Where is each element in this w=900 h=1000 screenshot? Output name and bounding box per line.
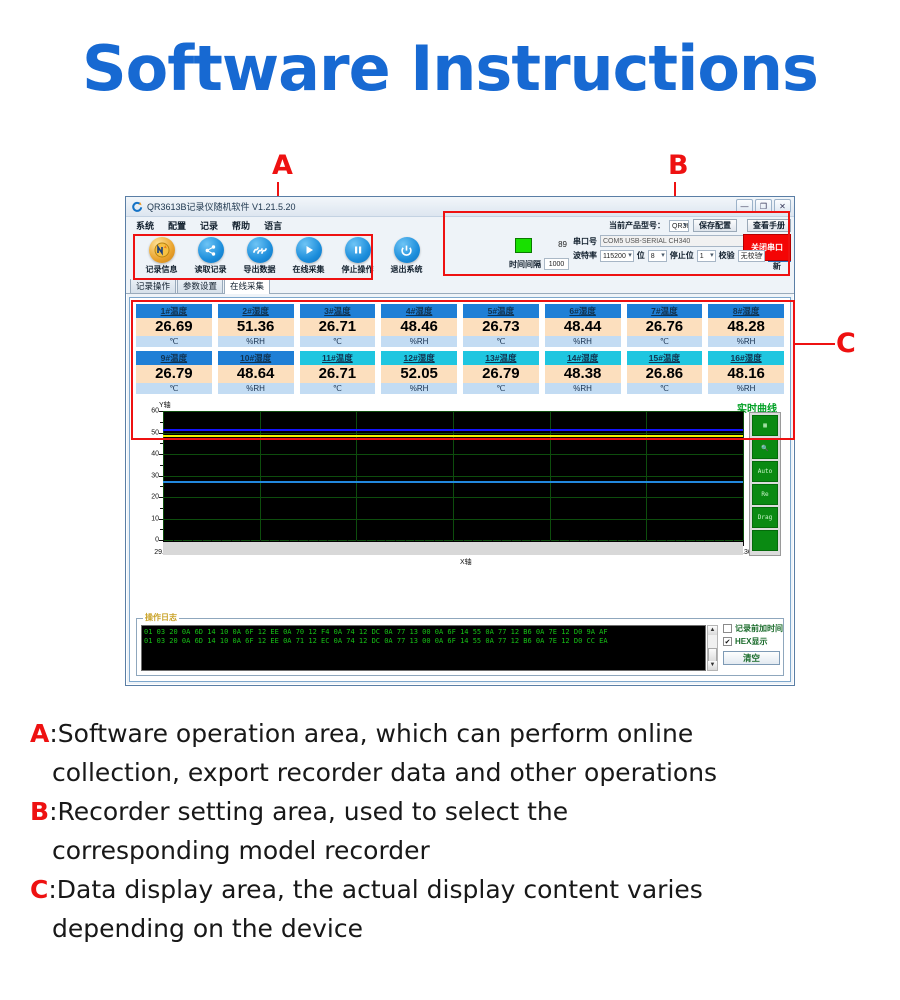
- blank-button[interactable]: [752, 530, 778, 551]
- serial-port-select[interactable]: COM5 USB-SERIAL CH340: [600, 235, 755, 247]
- data-cell-header: 7#温度: [627, 304, 703, 318]
- data-bits-select[interactable]: 8: [648, 250, 667, 262]
- operation-log-legend: 操作日志: [143, 612, 179, 623]
- annotation-letter-b: B: [668, 152, 689, 179]
- chart-x-minor-tick: [743, 540, 744, 546]
- data-cell-unit: %RH: [381, 336, 457, 347]
- data-cell-unit: %RH: [381, 383, 457, 394]
- data-cell-header: 3#温度: [300, 304, 376, 318]
- data-cell-value: 52.05: [381, 365, 457, 383]
- caption-text: :Software operation area, which can perf…: [49, 719, 693, 748]
- data-cell-value: 48.44: [545, 318, 621, 336]
- data-cell: 14#湿度48.38%RH: [545, 351, 621, 394]
- data-cell-unit: ℃: [300, 336, 376, 347]
- parity-select[interactable]: 无校验: [738, 250, 765, 262]
- data-cell-unit: ℃: [463, 336, 539, 347]
- interval-label: 时间间隔: [509, 259, 541, 270]
- realtime-chart: Y轴 实时曲线 010203040506029.3639.3636449.363…: [137, 400, 783, 565]
- data-cell-unit: %RH: [545, 383, 621, 394]
- log-line: 01 03 20 0A 6D 14 10 0A 6F 12 EE 0A 71 1…: [144, 637, 703, 646]
- status-led-indicator: [515, 238, 532, 253]
- data-cell-unit: %RH: [218, 336, 294, 347]
- drag-button[interactable]: Drag: [752, 507, 778, 528]
- hex-display-checkbox-label: HEX显示: [735, 636, 767, 647]
- caption-letter: A: [30, 719, 49, 748]
- data-cell-header: 15#温度: [627, 351, 703, 365]
- export-data-icon: [247, 237, 273, 263]
- serial-settings-panel: 当前产品型号： QR3613B 保存配置 查看手册 串口号 COM5 USB-S…: [573, 219, 791, 279]
- timestamp-checkbox-label: 记录前加时间: [735, 623, 783, 634]
- view-manual-button[interactable]: 查看手册: [747, 219, 791, 232]
- model-select[interactable]: QR3613B: [669, 220, 689, 232]
- record-info-icon: [149, 237, 175, 263]
- annotation-letter-a: A: [272, 152, 293, 179]
- data-cell: 7#温度26.76℃: [627, 304, 703, 347]
- data-cell-value: 48.28: [708, 318, 784, 336]
- caption-line: B:Recorder setting area, used to select …: [30, 792, 900, 831]
- toolbar-label-read-record: 读取记录: [195, 264, 227, 275]
- caption-text: :Recorder setting area, used to select t…: [49, 797, 568, 826]
- data-cell-value: 48.38: [545, 365, 621, 383]
- data-cell-value: 26.86: [627, 365, 703, 383]
- data-cell: 9#温度26.79℃: [136, 351, 212, 394]
- stop-bits-select[interactable]: 1: [697, 250, 716, 262]
- log-options: 记录前加时间 HEX显示 清空: [723, 623, 780, 672]
- data-cell: 8#湿度48.28%RH: [708, 304, 784, 347]
- chart-x-axis-label: X轴: [460, 557, 472, 567]
- data-cell: 10#湿度48.64%RH: [218, 351, 294, 394]
- chart-x-axis-strip: [163, 541, 743, 555]
- chart-toolbar: ▦🔍AutoReDrag: [749, 412, 781, 556]
- tab-parameter-setting[interactable]: 参数设置: [177, 278, 223, 293]
- data-cell-header: 9#温度: [136, 351, 212, 365]
- data-cell-unit: ℃: [627, 336, 703, 347]
- data-cell-value: 26.79: [136, 365, 212, 383]
- save-config-button[interactable]: 保存配置: [693, 219, 737, 232]
- data-cell: 11#温度26.71℃: [300, 351, 376, 394]
- caption-line: corresponding model recorder: [30, 831, 900, 870]
- data-cell-unit: %RH: [545, 336, 621, 347]
- window-controls: — ❐ ✕: [736, 199, 791, 213]
- data-cell-unit: %RH: [708, 336, 784, 347]
- annotation-leader-c: [795, 343, 835, 345]
- baud-rate-select[interactable]: 115200: [600, 250, 634, 262]
- tab-bar: 记录操作 参数设置 在线采集: [126, 279, 794, 294]
- data-cell-value: 26.73: [463, 318, 539, 336]
- data-cell: 15#温度26.86℃: [627, 351, 703, 394]
- reset-button[interactable]: Re: [752, 484, 778, 505]
- data-cell-header: 4#湿度: [381, 304, 457, 318]
- serial-port-label: 串口号: [573, 236, 597, 247]
- toolbar-label-online-collect: 在线采集: [293, 264, 325, 275]
- timestamp-checkbox[interactable]: [723, 624, 732, 633]
- menu-item-system[interactable]: 系统: [136, 219, 154, 232]
- data-cell-header: 13#温度: [463, 351, 539, 365]
- stop-operation-icon: [345, 237, 371, 263]
- toolbar-button-read-record[interactable]: 读取记录: [187, 237, 234, 275]
- toolbar-label-exit-system: 退出系统: [391, 264, 423, 275]
- data-cell-header: 6#湿度: [545, 304, 621, 318]
- auto-scale-button[interactable]: Auto: [752, 461, 778, 482]
- chart-plot-area[interactable]: 010203040506029.3639.3636449.3636459.363…: [163, 411, 743, 540]
- annotation-letter-c: C: [836, 330, 856, 357]
- data-cell: 5#温度26.73℃: [463, 304, 539, 347]
- data-cell: 12#湿度52.05%RH: [381, 351, 457, 394]
- stop-bits-label: 停止位: [670, 250, 694, 261]
- toolbar-strip: 记录信息 读取记录 导出数据 在线采集: [126, 234, 794, 279]
- data-cell-value: 48.16: [708, 365, 784, 383]
- caption-text: :Data display area, the actual display c…: [48, 875, 702, 904]
- chart-series-temperature-cyan: [163, 481, 743, 483]
- online-collect-icon: [296, 237, 322, 263]
- parity-label: 校验: [719, 250, 735, 261]
- data-cell: 4#湿度48.46%RH: [381, 304, 457, 347]
- data-cell-unit: ℃: [627, 383, 703, 394]
- baud-rate-label: 波特率: [573, 250, 597, 261]
- log-scrollbar[interactable]: ▲ ▼: [707, 625, 718, 671]
- data-cell-header: 1#温度: [136, 304, 212, 318]
- caption-text: depending on the device: [52, 914, 363, 943]
- read-record-icon: [198, 237, 224, 263]
- hex-display-checkbox[interactable]: [723, 637, 732, 646]
- caption-line: collection, export recorder data and oth…: [30, 753, 900, 792]
- data-cell-value: 51.36: [218, 318, 294, 336]
- status-interval-group: 89 时间间隔 1000: [509, 236, 569, 270]
- menu-item-config[interactable]: 配置: [168, 219, 186, 232]
- toolbar-button-record-info[interactable]: 记录信息: [138, 237, 185, 275]
- toolbar-button-online-collect[interactable]: 在线采集: [285, 237, 332, 275]
- data-cell-header: 10#湿度: [218, 351, 294, 365]
- caption-line: C:Data display area, the actual display …: [30, 870, 900, 909]
- chart-gridline: [743, 411, 744, 540]
- data-cell-header: 2#湿度: [218, 304, 294, 318]
- app-logo-icon: [131, 201, 143, 213]
- window-titlebar: QR3613B记录仪随机软件 V1.21.5.20 — ❐ ✕: [126, 197, 794, 217]
- menu-item-language[interactable]: 语言: [264, 219, 282, 232]
- tab-online-collection[interactable]: 在线采集: [224, 278, 270, 294]
- toolbar-label-stop-operation: 停止操作: [342, 264, 374, 275]
- data-bits-label: 位: [637, 250, 645, 261]
- data-cell-value: 26.71: [300, 365, 376, 383]
- data-cell: 2#湿度51.36%RH: [218, 304, 294, 347]
- data-cell-unit: ℃: [136, 383, 212, 394]
- data-cell-unit: ℃: [300, 383, 376, 394]
- data-cell-value: 48.46: [381, 318, 457, 336]
- data-cell-header: 16#湿度: [708, 351, 784, 365]
- data-cell-header: 14#湿度: [545, 351, 621, 365]
- grid-toggle-button[interactable]: ▦: [752, 415, 778, 436]
- data-cell-value: 26.79: [463, 365, 539, 383]
- interval-input[interactable]: 1000: [544, 258, 569, 270]
- data-cell: 16#湿度48.16%RH: [708, 351, 784, 394]
- data-cell-unit: ℃: [463, 383, 539, 394]
- sample-counter: 89: [558, 240, 567, 249]
- toolbar-label-export-data: 导出数据: [244, 264, 276, 275]
- data-cell-value: 26.71: [300, 318, 376, 336]
- toolbar-button-exit-system[interactable]: 退出系统: [383, 237, 430, 275]
- caption-text: corresponding model recorder: [52, 836, 430, 865]
- data-cell-header: 12#湿度: [381, 351, 457, 365]
- caption-block: A:Software operation area, which can per…: [30, 714, 900, 948]
- data-cell-unit: %RH: [708, 383, 784, 394]
- caption-letter: C: [30, 875, 48, 904]
- toolbar-button-export-data[interactable]: 导出数据: [236, 237, 283, 275]
- toolbar-label-record-info: 记录信息: [146, 264, 178, 275]
- chart-series-humidity-blue: [163, 429, 743, 431]
- exit-system-icon: [394, 237, 420, 263]
- menu-item-record[interactable]: 记录: [200, 219, 218, 232]
- model-label: 当前产品型号：: [609, 220, 665, 231]
- operation-log-group: 操作日志 01 03 20 0A 6D 14 10 0A 6F 12 EE 0A…: [136, 618, 784, 676]
- zoom-button[interactable]: 🔍: [752, 438, 778, 459]
- data-cell: 1#温度26.69℃: [136, 304, 212, 347]
- tab-content-panel: 1#温度26.69℃2#湿度51.36%RH3#温度26.71℃4#湿度48.4…: [129, 297, 791, 682]
- minimize-button[interactable]: —: [736, 199, 753, 213]
- data-cell-value: 26.69: [136, 318, 212, 336]
- data-cell-value: 48.64: [218, 365, 294, 383]
- data-cell-header: 8#湿度: [708, 304, 784, 318]
- log-line: 01 03 20 0A 6D 14 10 0A 6F 12 EE 0A 70 1…: [144, 628, 703, 637]
- scroll-down-arrow[interactable]: ▼: [708, 661, 717, 670]
- data-cell-header: 11#温度: [300, 351, 376, 365]
- caption-letter: B: [30, 797, 49, 826]
- data-cell: 13#温度26.79℃: [463, 351, 539, 394]
- data-cell-unit: ℃: [136, 336, 212, 347]
- data-display-grid: 1#温度26.69℃2#湿度51.36%RH3#温度26.71℃4#湿度48.4…: [130, 298, 790, 394]
- menu-item-help[interactable]: 帮助: [232, 219, 250, 232]
- data-cell-header: 5#温度: [463, 304, 539, 318]
- operation-log-output[interactable]: 01 03 20 0A 6D 14 10 0A 6F 12 EE 0A 70 1…: [141, 625, 706, 671]
- window-title: QR3613B记录仪随机软件 V1.21.5.20: [147, 200, 296, 213]
- caption-line: A:Software operation area, which can per…: [30, 714, 900, 753]
- data-cell-unit: %RH: [218, 383, 294, 394]
- toolbar-button-stop-operation[interactable]: 停止操作: [334, 237, 381, 275]
- data-cell: 3#温度26.71℃: [300, 304, 376, 347]
- application-window: QR3613B记录仪随机软件 V1.21.5.20 — ❐ ✕ 系统 配置 记录…: [125, 196, 795, 686]
- page-title: Software Instructions: [0, 38, 900, 100]
- chart-series-humidity-yellow: [163, 435, 743, 437]
- clear-log-button[interactable]: 清空: [723, 651, 780, 665]
- toolbar-button-group: 记录信息 读取记录 导出数据 在线采集: [134, 235, 434, 277]
- data-cell: 6#湿度48.44%RH: [545, 304, 621, 347]
- caption-text: collection, export recorder data and oth…: [52, 758, 717, 787]
- close-button[interactable]: ✕: [774, 199, 791, 213]
- maximize-button[interactable]: ❐: [755, 199, 772, 213]
- caption-line: depending on the device: [30, 909, 900, 948]
- tab-record-operation[interactable]: 记录操作: [130, 278, 176, 293]
- data-cell-value: 26.76: [627, 318, 703, 336]
- scroll-up-arrow[interactable]: ▲: [708, 626, 717, 635]
